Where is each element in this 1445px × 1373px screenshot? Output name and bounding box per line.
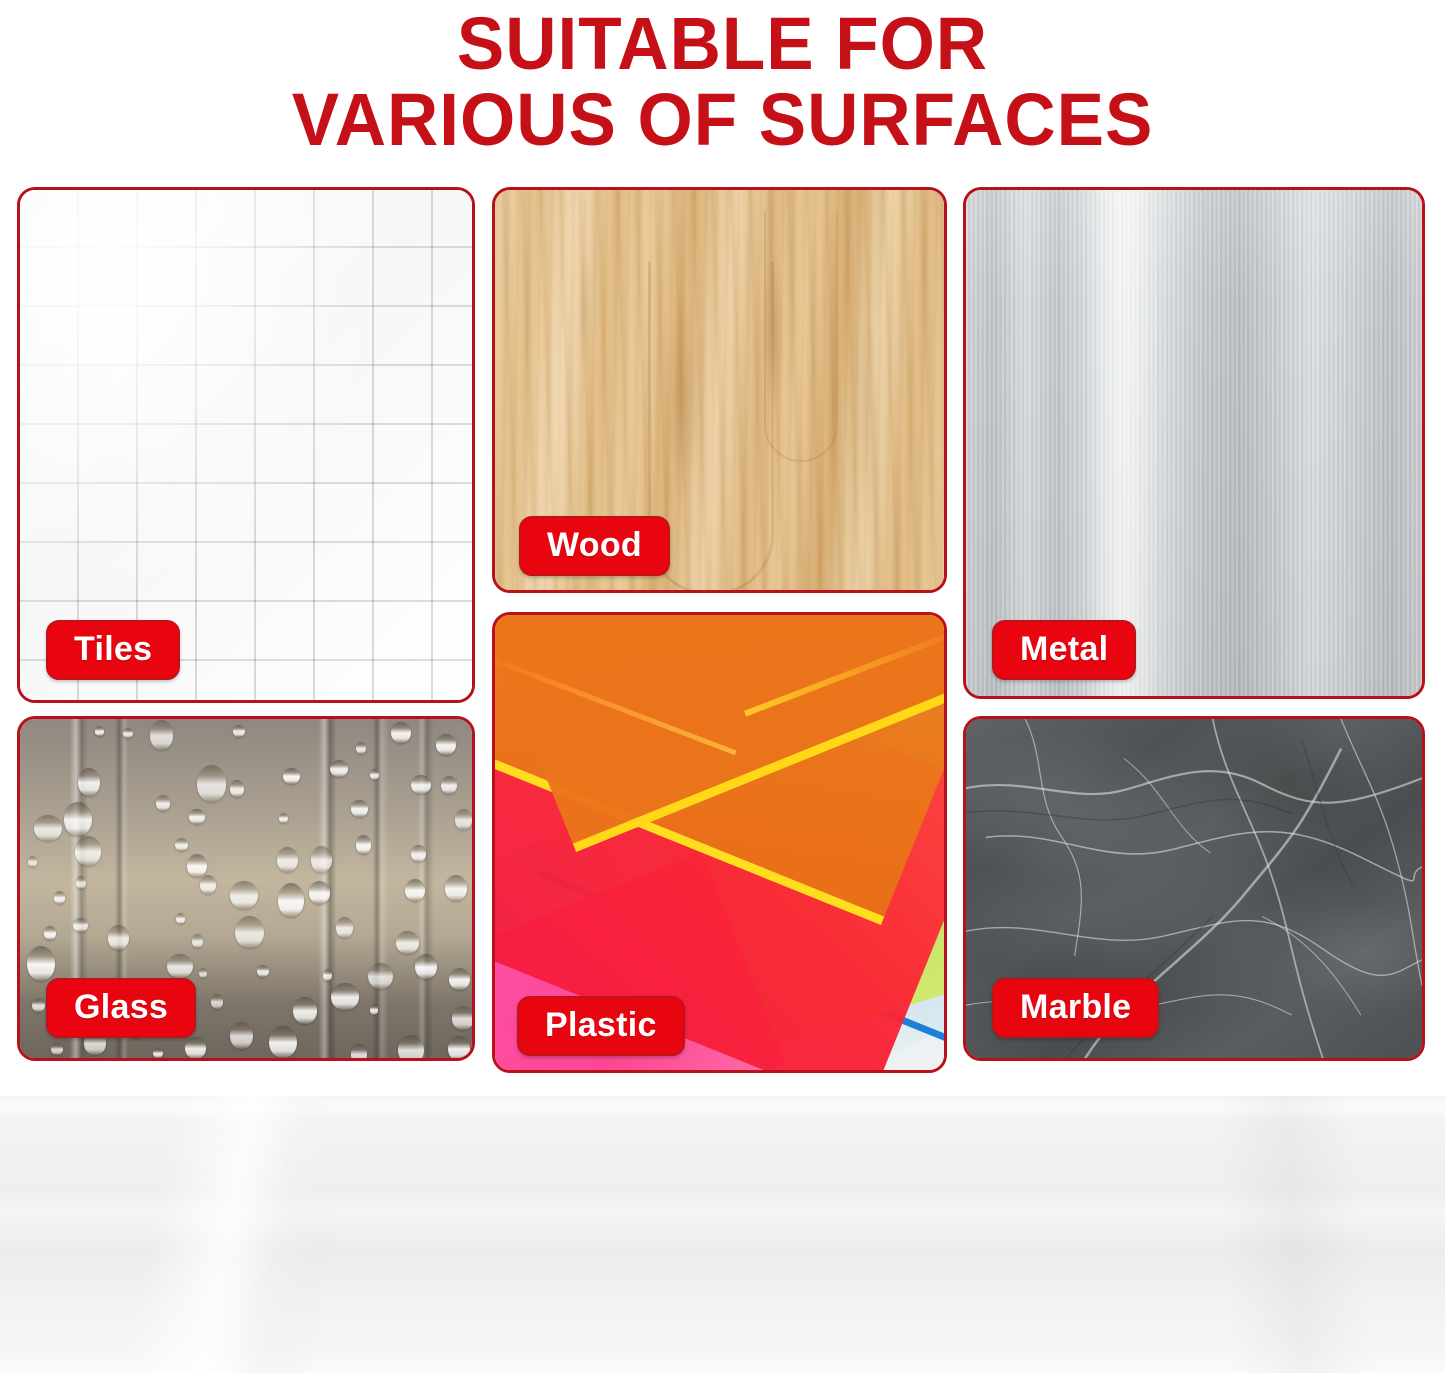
page-title-line-1: SUITABLE FOR: [29, 6, 1416, 82]
surface-label-wood: Wood: [519, 516, 670, 576]
page-title: SUITABLE FOR VARIOUS OF SURFACES: [29, 6, 1416, 158]
water-droplet: [185, 1037, 206, 1059]
water-droplet: [32, 998, 45, 1012]
water-droplet: [368, 963, 393, 990]
water-droplet: [293, 997, 317, 1024]
water-droplet: [51, 1043, 63, 1056]
surface-label-tiles: Tiles: [46, 620, 180, 680]
surface-label-plastic: Plastic: [517, 996, 685, 1056]
water-droplet: [211, 994, 224, 1009]
water-droplet: [150, 720, 173, 750]
page-title-line-2: VARIOUS OF SURFACES: [29, 82, 1416, 158]
surface-label-glass: Glass: [46, 978, 196, 1038]
water-droplet: [331, 983, 358, 1010]
water-droplet: [28, 856, 37, 867]
surface-label-metal: Metal: [992, 620, 1136, 680]
water-droplet: [398, 1035, 424, 1061]
water-droplet: [452, 1006, 474, 1029]
water-droplet: [283, 768, 300, 785]
surface-card-plastic: Plastic: [492, 612, 947, 1073]
water-droplet: [75, 836, 102, 866]
water-droplet: [187, 854, 207, 877]
water-droplet: [230, 780, 244, 798]
water-droplet: [192, 934, 203, 947]
water-droplet: [445, 875, 467, 901]
water-droplet: [95, 726, 105, 736]
water-droplet: [396, 931, 419, 954]
bottom-white-surface: [0, 1096, 1445, 1373]
water-droplet: [323, 969, 332, 981]
water-droplet: [64, 802, 92, 836]
water-droplet: [54, 891, 66, 904]
water-droplet: [441, 776, 458, 795]
water-droplet: [235, 916, 263, 948]
water-droplet: [277, 847, 298, 872]
water-droplet: [330, 760, 348, 778]
water-droplet: [167, 954, 193, 978]
water-droplet: [123, 728, 133, 738]
acrylic-edge-glow-left: [492, 651, 737, 755]
water-droplet: [199, 968, 207, 978]
water-droplet: [153, 1048, 163, 1058]
water-droplet: [405, 879, 425, 901]
water-droplet: [27, 946, 55, 981]
water-droplet: [448, 1036, 470, 1061]
water-droplet: [455, 809, 472, 830]
surface-label-marble: Marble: [992, 978, 1159, 1038]
water-droplet: [156, 795, 170, 811]
water-droplet: [415, 954, 437, 980]
water-droplet: [351, 1044, 367, 1061]
water-droplet: [449, 968, 470, 990]
surface-card-metal: Metal: [963, 187, 1425, 699]
water-droplet: [257, 965, 270, 977]
water-droplet: [200, 875, 216, 894]
acrylic-edge-glow-right: [745, 624, 947, 716]
water-droplet: [370, 1004, 378, 1015]
acrylic-sheet-orange-left: [492, 612, 947, 924]
water-droplet: [336, 917, 353, 938]
water-droplet: [436, 734, 456, 755]
water-droplet: [76, 876, 87, 889]
water-droplet: [356, 835, 372, 854]
water-droplet: [309, 881, 331, 904]
acrylic-sheet-orange-right: [492, 612, 947, 852]
water-droplet: [175, 838, 188, 852]
water-droplet: [391, 722, 411, 744]
bottom-surface-sheen: [0, 1096, 1445, 1373]
water-droplet: [108, 925, 129, 950]
surface-card-tiles: Tiles: [17, 187, 475, 703]
water-droplet: [230, 881, 258, 909]
water-droplet: [197, 765, 227, 802]
water-droplet: [78, 768, 100, 796]
water-droplet: [269, 1026, 297, 1059]
water-droplet: [278, 883, 304, 917]
water-droplet: [351, 800, 367, 817]
water-droplet: [411, 845, 427, 863]
water-droplet: [34, 815, 62, 842]
water-droplet: [176, 913, 185, 924]
water-droplet: [44, 926, 56, 940]
water-droplet: [189, 809, 204, 825]
water-droplet: [73, 918, 88, 933]
surface-card-marble: Marble: [963, 716, 1425, 1061]
water-droplet: [311, 846, 332, 873]
water-droplet: [279, 813, 288, 823]
acrylic-sheet-green: [657, 653, 947, 1056]
surface-card-wood: Wood: [492, 187, 947, 593]
water-droplet: [411, 775, 431, 795]
water-droplet: [233, 725, 245, 737]
water-droplet: [356, 742, 367, 754]
surface-card-glass: Glass: [17, 716, 475, 1061]
water-droplet: [370, 769, 379, 780]
water-droplet: [230, 1022, 253, 1049]
